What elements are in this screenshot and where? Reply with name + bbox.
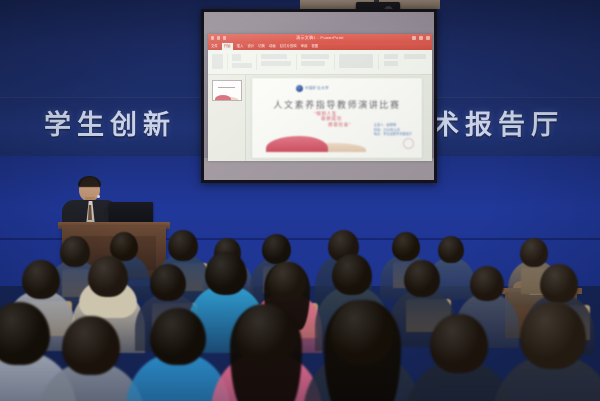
slide-thumbnail-1[interactable] — [212, 80, 242, 101]
undo-icon[interactable] — [217, 36, 220, 40]
banner-text-right: 术报告厅 — [432, 103, 564, 142]
current-slide[interactable]: 中国矿业大学 人文素养指导教师演讲比赛 "规划人生 收获成功 感恩社会" 主讲人… — [252, 78, 422, 158]
ribbon-tab-insert[interactable]: 插入 — [237, 43, 244, 50]
slide-thumbnail-pane[interactable] — [208, 75, 246, 161]
ribbon-group-divider — [256, 54, 257, 70]
quick-access-toolbar[interactable] — [211, 36, 226, 40]
window-controls[interactable] — [412, 36, 430, 40]
university-logo-icon — [296, 85, 303, 92]
new-slide-button[interactable] — [232, 54, 241, 61]
ribbon-group-divider — [296, 54, 297, 70]
audience-member-head — [332, 254, 372, 295]
audience-member-head — [150, 308, 206, 365]
audience-member-head — [168, 230, 198, 261]
audience-member-head — [22, 260, 60, 299]
ribbon-group-divider — [378, 54, 379, 70]
audience-member-head — [430, 314, 488, 373]
microphone-icon — [97, 195, 100, 198]
redo-icon[interactable] — [223, 36, 226, 40]
desktop-background-bottom — [204, 158, 434, 180]
slide-title: 人文素养指导教师演讲比赛 — [252, 98, 422, 111]
ribbon-tab-home[interactable]: 开始 — [222, 43, 233, 50]
ribbon-tab-file[interactable]: 文件 — [211, 43, 218, 50]
ribbon-command-area[interactable] — [208, 50, 432, 75]
slide-layout-button[interactable] — [232, 63, 252, 68]
banner-text-left: 学生创新 — [44, 103, 176, 142]
audience-member-head — [268, 262, 306, 301]
ribbon-tab-review[interactable]: 审阅 — [301, 43, 308, 50]
audience-member-head — [262, 234, 291, 264]
minimize-icon[interactable] — [412, 36, 416, 40]
close-icon[interactable] — [426, 36, 430, 40]
find-button[interactable] — [384, 54, 398, 59]
save-icon[interactable] — [211, 36, 214, 40]
audience-member-head — [470, 266, 504, 301]
audience-member-head — [404, 260, 440, 297]
audience-member-head — [205, 252, 247, 295]
powerpoint-workspace: 中国矿业大学 人文素养指导教师演讲比赛 "规划人生 收获成功 感恩社会" 主讲人… — [208, 75, 432, 161]
ribbon-group-divider — [334, 54, 335, 70]
audience-member-head — [520, 238, 548, 267]
ribbon-tab-transitions[interactable]: 切换 — [258, 43, 265, 50]
university-logo: 中国矿业大学 — [296, 85, 329, 92]
audience-member-head — [540, 264, 578, 303]
maximize-icon[interactable] — [419, 36, 423, 40]
powerpoint-title-bar: 演示文稿1 - PowerPoint — [208, 34, 432, 43]
audience — [0, 230, 600, 401]
slide-meta-line-3: 地点：学生创新学术报告厅 — [374, 132, 412, 136]
window-title: 演示文稿1 - PowerPoint — [296, 35, 344, 41]
paragraph-align-group[interactable] — [301, 54, 329, 59]
ribbon-group-divider — [227, 54, 228, 70]
powerpoint-window[interactable]: 演示文稿1 - PowerPoint 文件 开始 插入 设计 切换 动画 幻灯片… — [208, 34, 432, 161]
slide-subtitle: "规划人生 收获成功 感恩社会" — [314, 111, 351, 127]
projection-screen-surface: 演示文稿1 - PowerPoint 文件 开始 插入 设计 切换 动画 幻灯片… — [204, 12, 434, 180]
thumbnail-title-line — [218, 87, 235, 88]
shapes-gallery[interactable] — [339, 54, 373, 68]
font-family-select[interactable] — [261, 54, 287, 59]
audience-member-head — [236, 304, 296, 365]
projection-screen-frame: 演示文稿1 - PowerPoint 文件 开始 插入 设计 切换 动画 幻灯片… — [201, 9, 437, 183]
ribbon-tab-view[interactable]: 视图 — [311, 43, 318, 50]
ribbon-tab-animations[interactable]: 动画 — [269, 43, 276, 50]
thumbnail-arc-red — [215, 95, 231, 100]
ribbon-tab-design[interactable]: 设计 — [247, 43, 254, 50]
paste-button[interactable] — [212, 54, 223, 69]
audience-member-head — [520, 302, 586, 369]
paragraph-list-group[interactable] — [301, 61, 325, 66]
select-button[interactable] — [404, 54, 426, 59]
presenter-laptop-screen — [109, 202, 153, 224]
audience-member-head — [392, 232, 420, 261]
audience-member-head — [60, 236, 90, 267]
audience-member-head — [150, 264, 186, 301]
slide-subtitle-line-3: 感恩社会" — [314, 122, 351, 127]
university-logo-text: 中国矿业大学 — [305, 86, 329, 91]
slide-seal-icon — [403, 138, 414, 149]
desktop-background-top — [204, 12, 434, 34]
slide-editing-pane[interactable]: 中国矿业大学 人文素养指导教师演讲比赛 "规划人生 收获成功 感恩社会" 主讲人… — [246, 75, 432, 161]
font-style-group[interactable] — [261, 61, 291, 66]
ribbon-tab-strip[interactable]: 文件 开始 插入 设计 切换 动画 幻灯片放映 审阅 视图 — [208, 43, 432, 50]
replace-button[interactable] — [384, 61, 398, 66]
slide-decor-arc-red — [266, 136, 328, 152]
lecture-hall-photo: 学生创新 术报告厅 演示文稿1 - PowerPoint — [0, 0, 600, 401]
audience-member-head — [62, 316, 120, 375]
audience-member-head — [438, 236, 464, 263]
ribbon-tab-slideshow[interactable]: 幻灯片放映 — [280, 43, 297, 50]
slide-presenter-meta: 主讲人：赵明明 时间：2015年11月 地点：学生创新学术报告厅 — [374, 123, 412, 136]
audience-member-head — [330, 300, 394, 365]
audience-member-head — [88, 256, 128, 297]
